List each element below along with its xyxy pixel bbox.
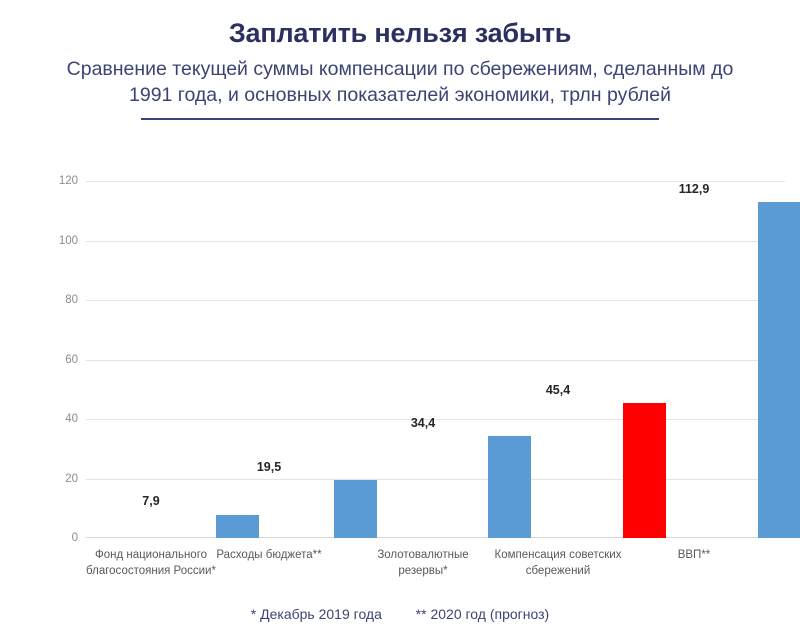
x-axis-category-label: Золотовалютные резервы* [353,548,493,579]
chart-canvas: 0204060801001207,9Фонд национального бла… [0,0,800,635]
bar-value-label: 34,4 [411,416,435,430]
y-axis-tick-label: 120 [38,175,78,187]
bar-value-label: 19,5 [257,460,281,474]
y-axis-tick-label: 0 [38,532,78,544]
y-axis-tick-label: 60 [38,354,78,366]
footnotes: * Декабрь 2019 года ** 2020 год (прогноз… [0,606,800,622]
gridline [86,300,785,301]
bar-4[interactable] [623,403,666,538]
plot-area [86,181,785,538]
y-axis-tick-label: 80 [38,294,78,306]
gridline [86,360,785,361]
bar-3[interactable] [488,436,531,538]
y-axis-tick-label: 40 [38,413,78,425]
gridline [86,479,785,480]
x-axis-category-label: Компенсация советских сбережений [488,548,628,579]
bar-2[interactable] [334,480,377,538]
gridline [86,419,785,420]
y-axis-tick-label: 20 [38,473,78,485]
bar-1[interactable] [216,515,259,539]
bar-value-label: 7,9 [142,494,159,508]
bar-5[interactable] [758,202,800,538]
x-axis-category-label: Расходы бюджета** [199,548,339,564]
x-axis-category-label: ВВП** [639,548,749,564]
footnote-one: * Декабрь 2019 года [251,606,382,622]
gridline [86,241,785,242]
y-axis-tick-label: 100 [38,235,78,247]
bar-value-label: 45,4 [546,383,570,397]
bar-value-label: 112,9 [679,182,710,196]
footnote-two: ** 2020 год (прогноз) [416,606,550,622]
x-axis-line [86,537,785,538]
